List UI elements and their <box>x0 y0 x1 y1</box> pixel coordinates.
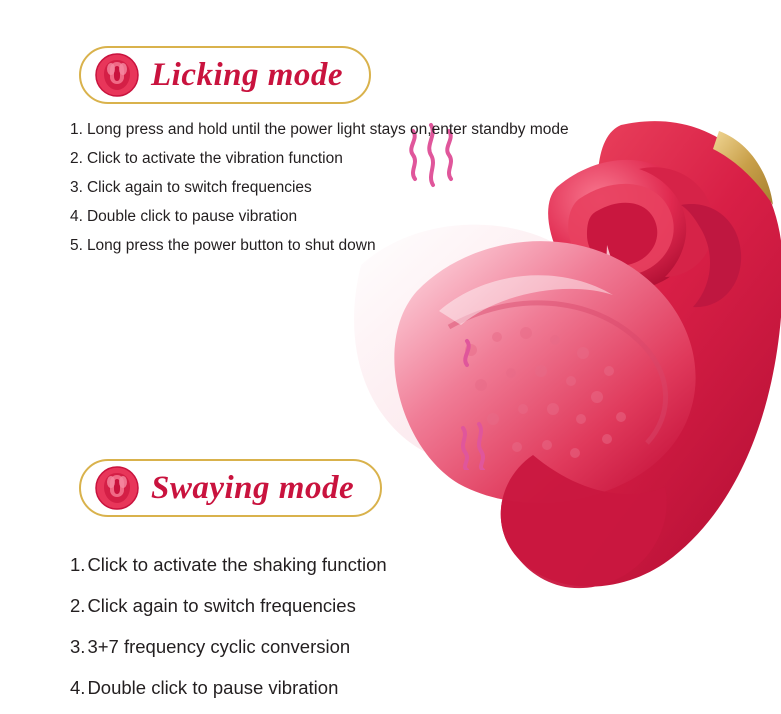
step-text: Click to activate the vibration function <box>87 150 343 167</box>
rose-head-icon <box>95 53 139 97</box>
list-item: 1.Long press and hold until the power li… <box>70 115 569 144</box>
list-item: 2.Click again to switch frequencies <box>70 585 387 626</box>
step-number: 3. <box>70 636 85 657</box>
list-item: 4.Double click to pause vibration <box>70 667 387 708</box>
step-number: 4. <box>70 677 85 698</box>
badge-licking-mode: Licking mode <box>79 46 371 104</box>
gold-trim <box>713 131 773 205</box>
vibration-squiggle-bottom <box>465 341 468 365</box>
body-lower-wrap <box>501 455 667 588</box>
list-item: 4.Double click to pause vibration <box>70 202 569 231</box>
badge-licking-title: Licking mode <box>151 57 343 94</box>
rose-petals <box>548 160 741 307</box>
steps-licking-mode: 1.Long press and hold until the power li… <box>70 115 569 260</box>
step-text: Long press and hold until the power ligh… <box>87 121 569 138</box>
step-text: Click to activate the shaking function <box>87 554 386 575</box>
water-droplet <box>599 245 630 325</box>
step-text: Double click to pause vibration <box>87 677 338 698</box>
step-text: Click again to switch frequencies <box>87 595 355 616</box>
tongue-shape <box>394 241 695 503</box>
step-text: Double click to pause vibration <box>87 208 297 225</box>
step-text: Long press the power button to shut down <box>87 237 376 254</box>
step-text: Click again to switch frequencies <box>87 179 312 196</box>
step-number: 2. <box>70 595 85 616</box>
step-number: 2. <box>70 150 83 167</box>
badge-swaying-mode: Swaying mode <box>79 459 382 517</box>
rose-head-icon <box>95 466 139 510</box>
vibration-squiggle-lower <box>455 420 495 470</box>
step-number: 3. <box>70 179 83 196</box>
list-item: 3.Click again to switch frequencies <box>70 173 569 202</box>
steps-swaying-mode: 1.Click to activate the shaking function… <box>70 544 387 708</box>
list-item: 3.3+7 frequency cyclic conversion <box>70 626 387 667</box>
list-item: 5.Long press the power button to shut do… <box>70 231 569 260</box>
product-instruction-page: Licking mode 1.Long press and hold until… <box>0 0 781 714</box>
list-item: 1.Click to activate the shaking function <box>70 544 387 585</box>
step-number: 1. <box>70 554 85 575</box>
step-number: 5. <box>70 237 83 254</box>
step-number: 1. <box>70 121 83 138</box>
step-number: 4. <box>70 208 83 225</box>
badge-swaying-title: Swaying mode <box>151 470 354 507</box>
list-item: 2.Click to activate the vibration functi… <box>70 144 569 173</box>
step-text: 3+7 frequency cyclic conversion <box>87 636 350 657</box>
